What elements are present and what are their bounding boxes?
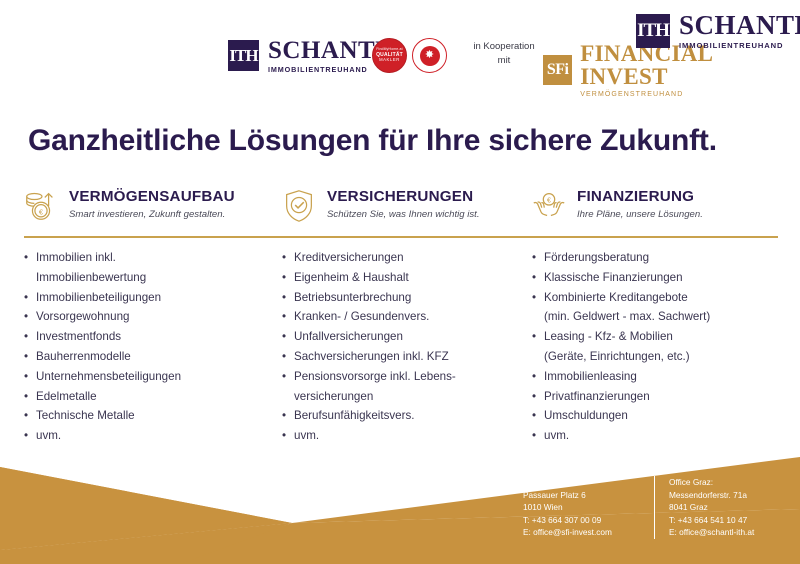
office-graz-city: 8041 Graz bbox=[669, 501, 754, 514]
category-header-vermoegensaufbau: € VERMÖGENSAUFBAU Smart investieren, Zuk… bbox=[22, 186, 280, 225]
office-graz-email[interactable]: E: office@schantl-ith.at bbox=[669, 526, 754, 539]
category-tagline: Ihre Pläne, unsere Lösungen. bbox=[577, 209, 703, 221]
category-title: VERSICHERUNGEN bbox=[327, 189, 480, 206]
ith-company-subtitle: IMMOBILIENTREUHAND bbox=[268, 66, 392, 73]
list-item: Vorsorgewohnung bbox=[22, 308, 280, 326]
list-item: Kreditversicherungen bbox=[280, 249, 530, 267]
ith-monogram-text: ITH bbox=[229, 47, 257, 64]
list-item: Immobilienbewertung bbox=[22, 269, 280, 287]
category-lists: Immobilien inkl.ImmobilienbewertungImmob… bbox=[22, 249, 792, 447]
category-header-versicherungen: VERSICHERUNGEN Schützen Sie, was Ihnen w… bbox=[280, 186, 530, 225]
ith-monogram-icon: ITH bbox=[228, 40, 259, 71]
svg-text:€: € bbox=[39, 208, 44, 217]
category-title: FINANZIERUNG bbox=[577, 189, 703, 206]
sfi-monogram-icon: SFi bbox=[543, 55, 572, 85]
list-item: Unfallversicherungen bbox=[280, 328, 530, 346]
category-header-finanzierung: € FINANZIERUNG Ihre Pläne, unsere Lösung… bbox=[530, 186, 782, 225]
category-title-block: FINANZIERUNG Ihre Pläne, unsere Lösungen… bbox=[577, 186, 703, 220]
list-item: Pensionsvorsorge inkl. Lebens- bbox=[280, 368, 530, 386]
list-item: Unternehmensbeteiligungen bbox=[22, 368, 280, 386]
footer-contacts: Office Wien: Passauer Platz 6 1010 Wien … bbox=[523, 476, 754, 539]
list-item: Leasing - Kfz- & Mobilien bbox=[530, 328, 788, 346]
wko-eagle-icon: ✸ bbox=[420, 46, 440, 66]
list-item: Eigenheim & Haushalt bbox=[280, 269, 530, 287]
list-item: Bauherrenmodelle bbox=[22, 348, 280, 366]
office-graz-phone[interactable]: T: +43 664 541 10 47 bbox=[669, 514, 754, 527]
office-wien-title: Office Wien: bbox=[523, 476, 654, 489]
svg-text:€: € bbox=[547, 197, 551, 205]
list-finanzierung: FörderungsberatungKlassische Finanzierun… bbox=[530, 249, 788, 447]
list-item: Förderungsberatung bbox=[530, 249, 788, 267]
list-item: Immobilienleasing bbox=[530, 368, 788, 386]
category-title: VERMÖGENSAUFBAU bbox=[69, 189, 235, 206]
ith-wordmark-right: SCHANTL IMMOBILIENTREUHAND bbox=[679, 12, 800, 50]
sfi-wordmark: FINANCIAL INVEST VERMÖGENSTREUHAND bbox=[580, 42, 800, 98]
ith-schantl-logo-right: ITH SCHANTL IMMOBILIENTREUHAND bbox=[636, 12, 800, 50]
list-item: (Geräte, Einrichtungen, etc.) bbox=[530, 348, 788, 366]
ith-monogram-text-right: ITH bbox=[637, 21, 669, 40]
list-item: Klassische Finanzierungen bbox=[530, 269, 788, 287]
list-item: Privatfinanzierungen bbox=[530, 388, 788, 406]
list-vermoegensaufbau: Immobilien inkl.ImmobilienbewertungImmob… bbox=[22, 249, 280, 447]
list-item: Berufsunfähigkeitsvers. bbox=[280, 407, 530, 425]
office-wien-street: Passauer Platz 6 bbox=[523, 489, 654, 502]
header-logo-bar: ITH SCHANTL IMMOBILIENTREUHAND FindMyHom… bbox=[0, 0, 800, 110]
ith-company-name-right: SCHANTL bbox=[679, 12, 800, 39]
list-item: Immobilien inkl. bbox=[22, 249, 280, 267]
list-item: Betriebsunterbrechung bbox=[280, 289, 530, 307]
office-graz-title: Office Graz: bbox=[669, 476, 754, 489]
office-wien-city: 1010 Wien bbox=[523, 501, 654, 514]
list-versicherungen: KreditversicherungenEigenheim & Haushalt… bbox=[280, 249, 530, 447]
office-graz: Office Graz: Messendorferstr. 71a 8041 G… bbox=[654, 476, 754, 539]
page-headline: Ganzheitliche Lösungen für Ihre sichere … bbox=[28, 124, 717, 158]
list-item: uvm. bbox=[22, 427, 280, 445]
coins-euro-growth-icon: € bbox=[22, 187, 60, 225]
shield-check-icon bbox=[280, 187, 318, 225]
sfi-company-subtitle: VERMÖGENSTREUHAND bbox=[580, 91, 800, 98]
category-title-block: VERSICHERUNGEN Schützen Sie, was Ihnen w… bbox=[327, 186, 480, 220]
list-item: Investmentfonds bbox=[22, 328, 280, 346]
list-item: Kombinierte Kreditangebote bbox=[530, 289, 788, 307]
category-headers: € VERMÖGENSAUFBAU Smart investieren, Zuk… bbox=[22, 186, 782, 225]
ith-company-subtitle-right: IMMOBILIENTREUHAND bbox=[679, 42, 800, 50]
list-item: Immobilienbeteiligungen bbox=[22, 289, 280, 307]
list-item: (min. Geldwert - max. Sachwert) bbox=[530, 308, 788, 326]
list-item: Sachversicherungen inkl. KFZ bbox=[280, 348, 530, 366]
cooperation-label: in Kooperation mit bbox=[470, 40, 538, 68]
ith-schantl-logo-left: ITH SCHANTL IMMOBILIENTREUHAND bbox=[228, 38, 392, 73]
list-item: Umschuldungen bbox=[530, 407, 788, 425]
ith-monogram-icon-right: ITH bbox=[636, 14, 670, 48]
office-wien-email[interactable]: E: office@sfi-invest.com bbox=[523, 526, 654, 539]
list-item: Technische Metalle bbox=[22, 407, 280, 425]
quality-makler-seal-icon: FindMyHome.at QUALITÄT MAKLER bbox=[372, 38, 407, 73]
list-item: uvm. bbox=[280, 427, 530, 445]
category-title-block: VERMÖGENSAUFBAU Smart investieren, Zukun… bbox=[69, 186, 235, 220]
gold-divider-rule bbox=[24, 236, 778, 238]
list-item: Kranken- / Gesundenvers. bbox=[280, 308, 530, 326]
list-item: versicherungen bbox=[280, 388, 530, 406]
category-tagline: Schützen Sie, was Ihnen wichtig ist. bbox=[327, 209, 480, 221]
list-item: uvm. bbox=[530, 427, 788, 445]
brochure-page: ITH SCHANTL IMMOBILIENTREUHAND FindMyHom… bbox=[0, 0, 800, 564]
list-item: Edelmetalle bbox=[22, 388, 280, 406]
wko-chamber-seal-icon: ✸ bbox=[412, 38, 447, 73]
seal-bottom-text: MAKLER bbox=[379, 58, 400, 62]
category-tagline: Smart investieren, Zukunft gestalten. bbox=[69, 209, 235, 221]
hands-holding-euro-icon: € bbox=[530, 187, 568, 225]
sfi-monogram-text: SFi bbox=[547, 62, 569, 78]
sfi-financial-invest-logo: SFi FINANCIAL INVEST VERMÖGENSTREUHAND bbox=[543, 42, 800, 98]
office-wien-phone[interactable]: T: +43 664 307 00 09 bbox=[523, 514, 654, 527]
office-wien: Office Wien: Passauer Platz 6 1010 Wien … bbox=[523, 476, 654, 539]
office-graz-street: Messendorferstr. 71a bbox=[669, 489, 754, 502]
